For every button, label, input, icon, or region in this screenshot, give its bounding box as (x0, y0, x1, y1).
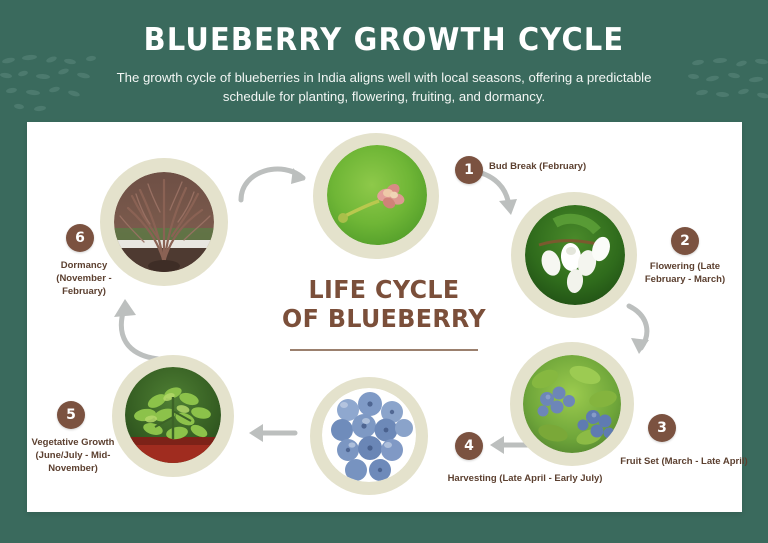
stage-number: 6 (75, 230, 85, 246)
stage-badge-3: 3 (648, 414, 676, 442)
stage-label-text: Harvesting (Late April - Early July) (448, 473, 603, 484)
stage-label-line: November) (14, 463, 132, 476)
harvesting-photo (322, 388, 416, 482)
flowering-photo (525, 205, 625, 305)
stage-label-line: Vegetative Growth (14, 437, 132, 450)
stage-label-text: Fruit Set (March - Late April) (620, 456, 747, 467)
stage-label-line: Flowering (Late (624, 261, 746, 274)
stage-harvesting[interactable] (310, 377, 428, 495)
stage-bud-break[interactable] (313, 133, 439, 259)
stage-label-line: February - March) (624, 274, 746, 287)
center-divider (290, 349, 478, 351)
stage-badge-2: 2 (671, 227, 699, 255)
stage-label-4: Harvesting (Late April - Early July) (430, 473, 620, 486)
bud-break-photo (327, 145, 427, 245)
stage-badge-4: 4 (455, 432, 483, 460)
stage-badge-5: 5 (57, 401, 85, 429)
center-title-line1: LIFE CYCLE (274, 276, 494, 305)
stage-number: 5 (66, 407, 76, 423)
stage-badge-6: 6 (66, 224, 94, 252)
center-title-line2: OF BLUEBERRY (274, 305, 494, 334)
stage-badge-1: 1 (455, 156, 483, 184)
stage-label-2: Flowering (Late February - March) (624, 261, 746, 287)
stage-label-3: Fruit Set (March - Late April) (604, 456, 764, 469)
stage-number: 2 (680, 233, 690, 249)
fruit-set-photo (523, 355, 621, 453)
stage-number: 4 (464, 438, 474, 454)
center-title-block: LIFE CYCLE OF BLUEBERRY (268, 276, 500, 351)
stage-label-text: Bud Break (February) (489, 161, 586, 172)
stage-number: 1 (464, 162, 474, 178)
stage-number: 3 (657, 420, 667, 436)
page-subtitle: The growth cycle of blueberries in India… (99, 68, 669, 106)
stage-label-line: (June/July - Mid- (14, 450, 132, 463)
infographic-page: BLUEBERRY GROWTH CYCLE The growth cycle … (0, 0, 768, 543)
stage-label-6: Dormancy (November - February) (34, 260, 134, 298)
center-title: LIFE CYCLE OF BLUEBERRY (274, 276, 494, 333)
stage-label-line: Dormancy (34, 260, 134, 273)
stage-label-line: (November - (34, 273, 134, 286)
page-title: BLUEBERRY GROWTH CYCLE (27, 0, 741, 58)
stage-label-1: Bud Break (February) (489, 161, 619, 174)
dormancy-photo (114, 172, 214, 272)
vegetative-growth-photo (125, 367, 221, 463)
stage-label-line: February) (34, 286, 134, 299)
stage-fruit-set[interactable] (510, 342, 634, 466)
stage-flowering[interactable] (511, 192, 637, 318)
header: BLUEBERRY GROWTH CYCLE The growth cycle … (0, 0, 768, 106)
stage-label-5: Vegetative Growth (June/July - Mid- Nove… (14, 437, 132, 475)
